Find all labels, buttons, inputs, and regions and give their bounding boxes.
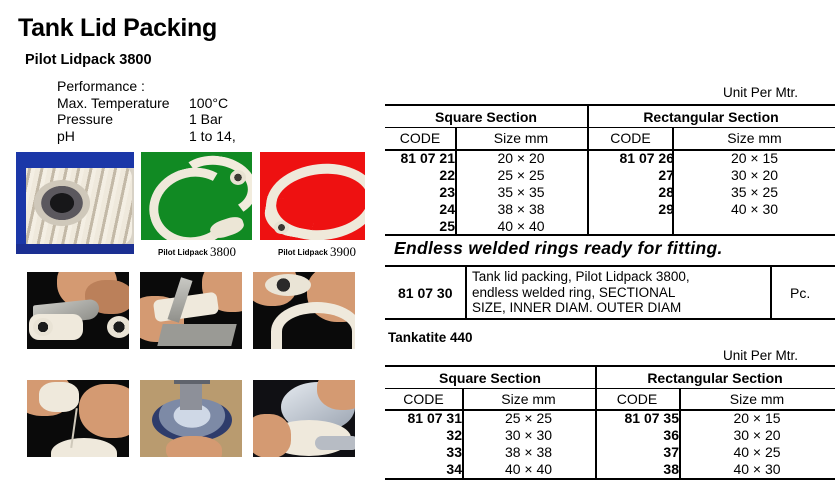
col-header-sq-size: Size mm	[462, 388, 595, 409]
hand	[166, 436, 222, 457]
caption-label: Pilot Lidpack	[278, 248, 328, 257]
photo-bg-top	[16, 152, 134, 168]
photo-bg-left	[16, 152, 26, 254]
perf-value-ph: 1 to 14,	[189, 128, 279, 145]
packing-end	[107, 316, 129, 338]
table-row: 25 40 × 40	[385, 217, 835, 234]
roll-core	[34, 180, 90, 226]
endless-unit-divider	[770, 265, 772, 318]
pilot-lidpack-3800-photo	[141, 152, 252, 240]
table-440: Square Section Rectangular Section CODE …	[385, 367, 835, 477]
perf-label-ph: pH	[57, 128, 189, 145]
perf-value-max-temperature: 100°C	[189, 95, 279, 112]
tank-fitting	[180, 380, 202, 410]
endless-description: Tank lid packing, Pilot Lidpack 3800, en…	[472, 269, 690, 316]
cell-sq-size: 38 × 38	[455, 200, 587, 217]
photo-caption-3800: Pilot Lidpack 3800	[158, 244, 236, 260]
table-row: 32 30 × 30 36 30 × 20	[385, 426, 835, 443]
perf-label-max-temperature: Max. Temperature	[57, 95, 189, 112]
step-1-cut-packing	[27, 272, 129, 349]
cell-rect-size: 40 × 30	[679, 460, 835, 477]
cell-rect-size: 30 × 20	[674, 166, 835, 183]
unit-label-3800: Unit Per Mtr.	[723, 85, 798, 100]
cell-sq-size: 20 × 20	[455, 149, 587, 166]
endless-unit: Pc.	[790, 285, 810, 301]
cell-rect-code: 36	[595, 426, 679, 443]
packing-end	[39, 382, 79, 412]
cell-sq-code: 32	[385, 426, 462, 443]
cell-rect-code	[587, 217, 674, 234]
endless-code-divider	[465, 265, 467, 318]
table-row: 24 38 × 38 29 40 × 30	[385, 200, 835, 217]
tankatite-product-name: Tankatite 440	[388, 330, 473, 345]
table-row: 23 35 × 35 28 35 × 25	[385, 183, 835, 200]
step-4-weld-ring	[27, 380, 129, 457]
col-header-sq-size: Size mm	[455, 127, 587, 149]
tank-clamp	[174, 380, 210, 384]
endless-description-line2: endless welded ring, SECTIONAL	[472, 285, 690, 301]
cell-rect-size	[674, 217, 835, 234]
cell-rect-code: 37	[595, 443, 679, 460]
cell-sq-size: 30 × 30	[462, 426, 595, 443]
cell-rect-code: 27	[587, 166, 674, 183]
cord-end-section	[230, 170, 246, 185]
endless-code: 81 07 30	[398, 285, 453, 301]
unit-label-440: Unit Per Mtr.	[723, 348, 798, 363]
performance-spec-block: Performance : Max. Temperature 100°C Pre…	[57, 78, 279, 144]
packing-ring-tail	[261, 196, 316, 240]
table-group-header-row: Square Section Rectangular Section	[385, 106, 835, 127]
product-name-heading: Pilot Lidpack 3800	[25, 52, 152, 68]
cell-rect-code: 81 07 35	[595, 409, 679, 426]
packing-roll-photo	[16, 152, 134, 254]
cell-sq-size: 38 × 38	[462, 443, 595, 460]
table-row: 81 07 31 25 × 25 81 07 35 20 × 15	[385, 409, 835, 426]
group-header-rectangular: Rectangular Section	[587, 106, 835, 127]
cell-rect-code: 81 07 26	[587, 149, 674, 166]
cell-sq-code: 25	[385, 217, 455, 234]
caption-number: 3800	[210, 244, 236, 259]
hand-right	[79, 384, 129, 438]
performance-row: Pressure 1 Bar	[57, 111, 279, 128]
col-header-rect-size: Size mm	[679, 388, 835, 409]
step-3-join-ends	[253, 272, 355, 349]
table-440-bottom-rule	[385, 478, 835, 480]
cell-sq-code: 34	[385, 460, 462, 477]
table-column-header-row: CODE Size mm CODE Size mm	[385, 127, 835, 149]
perf-value-pressure: 1 Bar	[189, 111, 279, 128]
step-2-trim-end	[140, 272, 242, 349]
photo-bg-bottom	[16, 244, 134, 254]
cell-rect-code: 38	[595, 460, 679, 477]
group-header-square: Square Section	[385, 106, 587, 127]
endless-rings-heading: Endless welded rings ready for fitting.	[394, 238, 723, 259]
cell-sq-code: 23	[385, 183, 455, 200]
cell-rect-code: 29	[587, 200, 674, 217]
cell-sq-size: 40 × 40	[455, 217, 587, 234]
page-title: Tank Lid Packing	[18, 14, 217, 43]
cell-sq-size: 25 × 25	[462, 409, 595, 426]
table-row: 81 07 21 20 × 20 81 07 26 20 × 15	[385, 149, 835, 166]
cell-sq-code: 33	[385, 443, 462, 460]
cell-rect-size: 40 × 30	[674, 200, 835, 217]
performance-heading: Performance :	[57, 78, 279, 95]
col-header-rect-size: Size mm	[674, 127, 835, 149]
table-row: 22 25 × 25 27 30 × 20	[385, 166, 835, 183]
col-header-sq-code: CODE	[385, 127, 455, 149]
cell-rect-size: 40 × 25	[679, 443, 835, 460]
table-3800-bottom-rule	[385, 234, 835, 236]
cell-sq-code: 81 07 21	[385, 149, 455, 166]
table-row: 34 40 × 40 38 40 × 30	[385, 460, 835, 477]
photo-caption-3900: Pilot Lidpack 3900	[278, 244, 356, 260]
cell-rect-size: 30 × 20	[679, 426, 835, 443]
pilot-lidpack-3900-photo	[260, 152, 365, 240]
endless-description-line1: Tank lid packing, Pilot Lidpack 3800,	[472, 269, 690, 285]
performance-row: pH 1 to 14,	[57, 128, 279, 145]
cell-sq-code: 81 07 31	[385, 409, 462, 426]
cell-sq-size: 35 × 35	[455, 183, 587, 200]
cell-rect-size: 20 × 15	[679, 409, 835, 426]
packing-loop	[51, 438, 117, 457]
endless-description-line3: SIZE, INNER DIAM. OUTER DIAM	[472, 300, 690, 316]
cell-rect-size: 35 × 25	[674, 183, 835, 200]
cell-sq-size: 25 × 25	[455, 166, 587, 183]
col-header-rect-code: CODE	[587, 127, 674, 149]
col-header-sq-code: CODE	[385, 388, 462, 409]
cell-sq-code: 22	[385, 166, 455, 183]
cell-rect-size: 20 × 15	[674, 149, 835, 166]
cell-rect-code: 28	[587, 183, 674, 200]
step-6-close-lid	[253, 380, 355, 457]
packing-loop	[271, 302, 355, 349]
caption-label: Pilot Lidpack	[158, 248, 208, 257]
performance-row: Max. Temperature 100°C	[57, 95, 279, 112]
group-header-rectangular: Rectangular Section	[595, 367, 835, 388]
work-surface	[157, 324, 236, 346]
perf-label-pressure: Pressure	[57, 111, 189, 128]
cell-sq-size: 40 × 40	[462, 460, 595, 477]
table-3800: Square Section Rectangular Section CODE …	[385, 106, 835, 234]
packing-bore	[33, 318, 53, 336]
ring-end-section	[274, 221, 289, 234]
step-5-fit-to-tank	[140, 380, 242, 457]
lid-bolt	[315, 436, 355, 450]
table-group-header-row: Square Section Rectangular Section	[385, 367, 835, 388]
caption-number: 3900	[330, 244, 356, 259]
table-column-header-row: CODE Size mm CODE Size mm	[385, 388, 835, 409]
cell-sq-code: 24	[385, 200, 455, 217]
endless-table-top-rule	[385, 265, 835, 267]
col-header-rect-code: CODE	[595, 388, 679, 409]
table-row: 33 38 × 38 37 40 × 25	[385, 443, 835, 460]
packing-end	[265, 274, 311, 296]
hand-left	[253, 414, 291, 457]
group-header-square: Square Section	[385, 367, 595, 388]
endless-table-bottom-rule	[385, 318, 835, 320]
